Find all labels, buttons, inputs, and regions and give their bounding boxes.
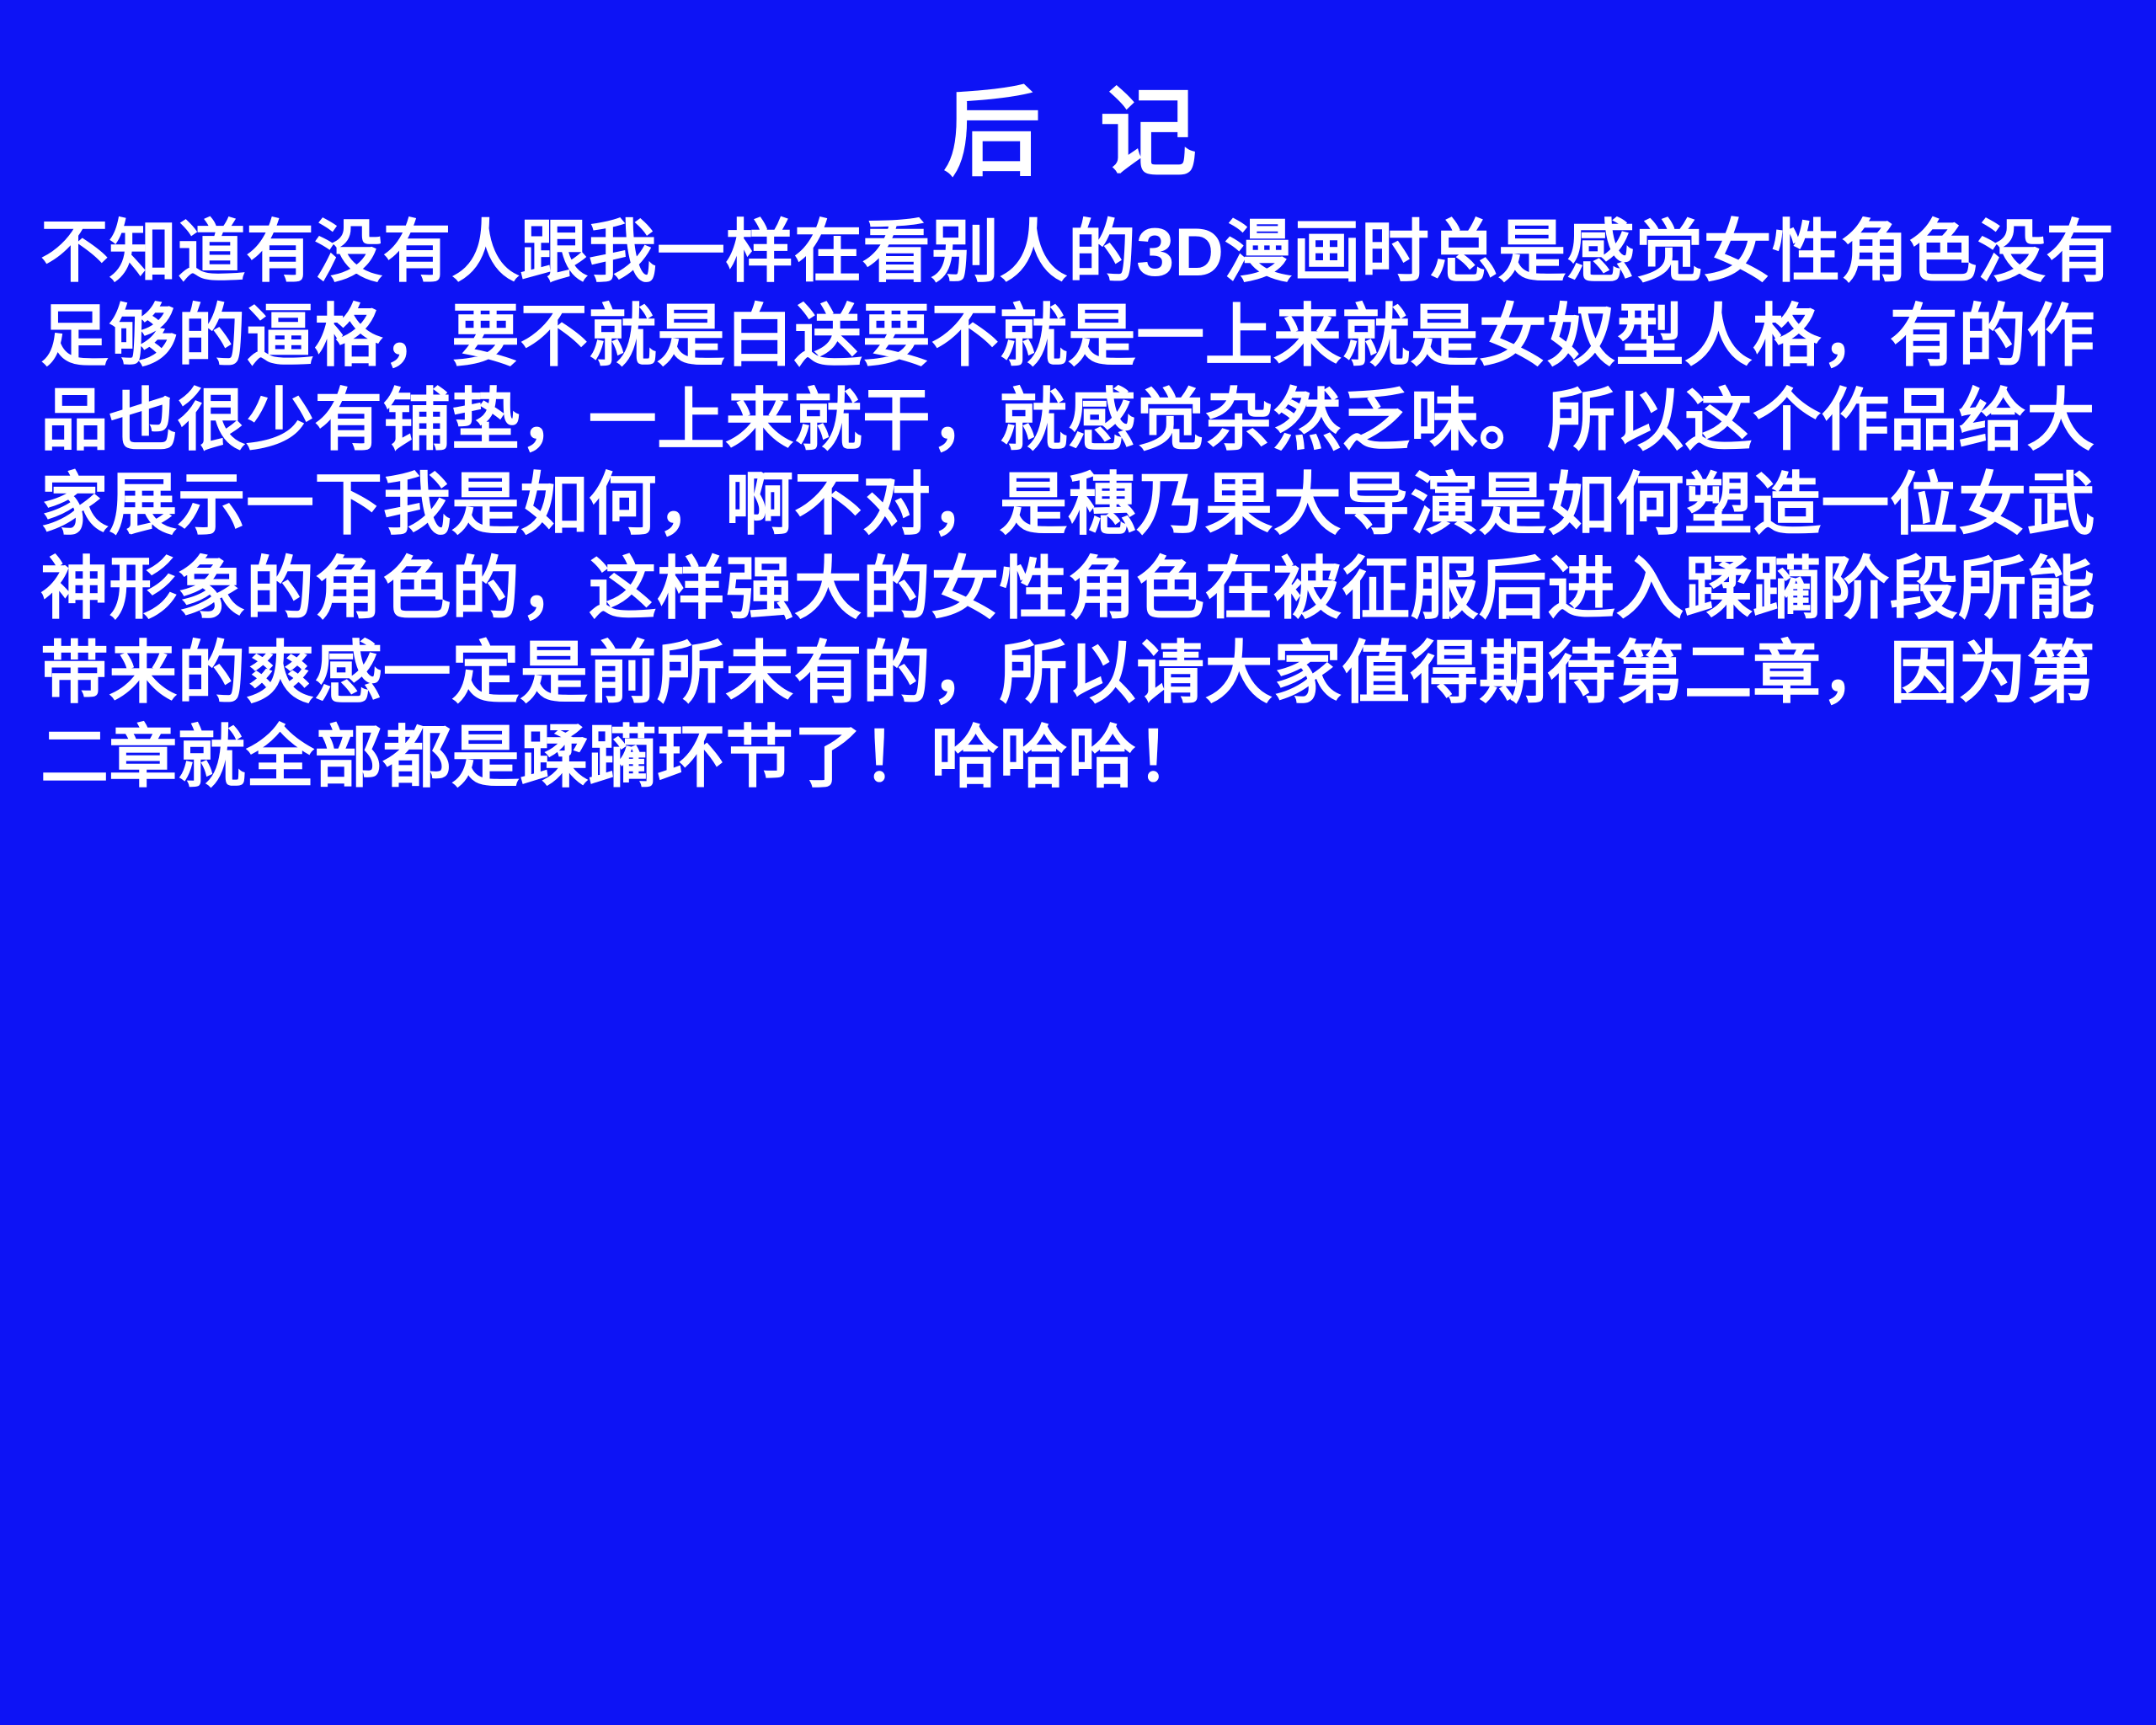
body-line: 足够的逼格，要不就是白送要不就是一上来就是女奴型人格，有的作 xyxy=(40,295,2121,379)
afterword-body: 不知道有没有人跟我一样在看别人的3D漫画时总是感觉女性角色没有 足够的逼格，要不… xyxy=(40,211,2121,800)
page-title: 后 记 xyxy=(0,72,2156,195)
body-line: 神形象的角色的，这样强大的女性角色在被征服后进入蹂躏阶段所能 xyxy=(40,547,2121,632)
afterword-slide: 后 记 不知道有没有人跟我一样在看别人的3D漫画时总是感觉女性角色没有 足够的逼… xyxy=(0,0,2156,1725)
body-line: 不知道有没有人跟我一样在看别人的3D漫画时总是感觉女性角色没有 xyxy=(40,211,2121,295)
body-line: 品也很少有铺垫，一上来就干，就感觉杂然乏味。所以这个作品给大 xyxy=(40,379,2121,463)
body-line: 带来的爽感一定是前所未有的，所以请大家值得期待第二章，因为第 xyxy=(40,632,2121,716)
body-line: 家展示一下我是如何，啊不对，是穗乃果大导演是如何塑造一位女武 xyxy=(40,463,2121,547)
body-line: 二章就全部都是蹂躏环节了！哈哈哈！ xyxy=(40,716,2121,800)
